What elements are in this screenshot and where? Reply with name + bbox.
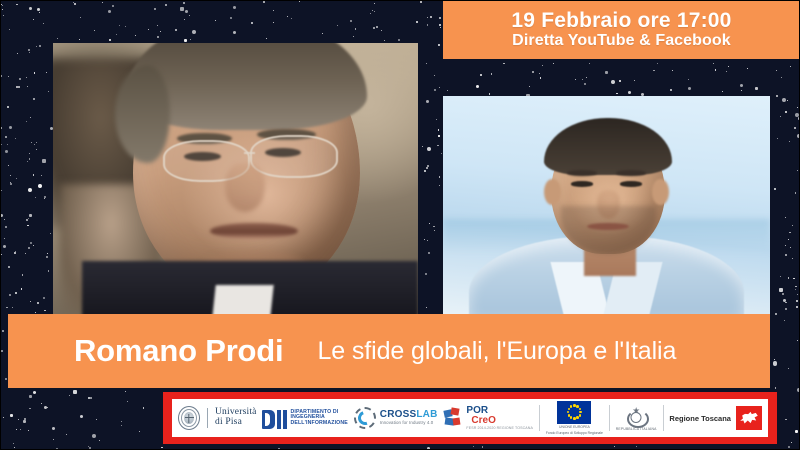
star (30, 301, 31, 302)
star (46, 72, 47, 73)
star (755, 87, 758, 90)
star (747, 68, 748, 69)
star (189, 15, 190, 16)
star (416, 21, 418, 23)
star (10, 414, 13, 417)
portrait-left-shirt-collar (212, 285, 274, 315)
por-line-2: CreO (471, 416, 533, 426)
republic-emblem-icon (626, 405, 646, 425)
star (774, 359, 775, 360)
star (785, 308, 787, 310)
star (353, 36, 354, 37)
portrait-right-eye-left (571, 181, 594, 186)
star (161, 447, 162, 448)
star (788, 277, 789, 278)
star (6, 307, 7, 308)
university-crest-icon (178, 406, 200, 430)
star (33, 174, 34, 175)
star (427, 24, 428, 25)
portrait-right-eye-right (620, 181, 643, 186)
star (715, 69, 716, 70)
star (116, 34, 117, 35)
dii-monogram-icon (262, 408, 287, 429)
star (447, 90, 448, 91)
star (69, 395, 70, 396)
star (12, 307, 13, 308)
star (109, 39, 111, 41)
star (611, 80, 615, 84)
star (780, 116, 781, 117)
star (426, 307, 427, 308)
star (48, 91, 49, 92)
star (1, 190, 2, 191)
star (33, 98, 35, 100)
star (1, 4, 2, 5)
star (36, 46, 37, 47)
star (47, 253, 48, 254)
star (29, 395, 32, 398)
star (0, 127, 2, 129)
star (266, 38, 267, 39)
star (20, 429, 21, 430)
star (8, 165, 9, 166)
star (10, 183, 12, 185)
star (793, 278, 794, 279)
star (9, 29, 10, 30)
star (56, 448, 58, 450)
star (532, 71, 534, 73)
star (439, 87, 440, 88)
star (0, 214, 3, 217)
star (776, 70, 777, 71)
star (90, 397, 92, 399)
star (185, 10, 188, 13)
star (47, 407, 48, 408)
star (135, 35, 136, 36)
eu-caption-2: Fondo Europeo di Sviluppo Regionale (546, 432, 603, 436)
star (713, 63, 714, 64)
star (273, 22, 274, 23)
eu-star (579, 414, 582, 417)
star (96, 419, 97, 420)
star (614, 446, 615, 447)
star (43, 297, 45, 299)
star (785, 254, 787, 256)
star (36, 149, 37, 150)
logo-divider (609, 405, 610, 431)
dii-line-3: DELL'INFORMAZIONE (290, 421, 347, 426)
star (3, 15, 4, 16)
star (19, 78, 21, 80)
star (436, 119, 437, 120)
star (439, 176, 440, 177)
star (553, 63, 554, 64)
star (5, 226, 7, 228)
star (728, 66, 729, 67)
star (99, 440, 100, 441)
star (37, 302, 39, 304)
star (425, 273, 427, 275)
star (30, 242, 32, 244)
star (476, 85, 479, 88)
star (439, 17, 441, 19)
star (190, 39, 191, 40)
star (337, 25, 338, 26)
event-broadcast-text: Diretta YouTube & Facebook (512, 33, 731, 50)
star (779, 288, 783, 292)
star (426, 100, 429, 103)
pegasus-icon (736, 406, 762, 430)
portrait-right-ear-right (652, 179, 668, 205)
star (791, 442, 792, 443)
star (426, 167, 428, 169)
star (273, 10, 274, 11)
star (374, 11, 375, 12)
por-tagline: FESR 2014-2020 REGIONE TOSCANA (466, 427, 533, 431)
star (88, 446, 89, 447)
logo-repubblica-italiana: REPUBBLICA ITALIANA (616, 399, 657, 437)
logo-crosslab: CROSSLAB Innovation for Industry 4.0 (354, 399, 438, 437)
star (36, 142, 37, 143)
star (792, 258, 793, 259)
star (251, 22, 253, 24)
eu-flag-icon (557, 401, 591, 424)
star (795, 286, 796, 287)
star (616, 93, 617, 94)
star (8, 76, 9, 77)
speaker-name: Romano Prodi (74, 333, 283, 369)
star (433, 226, 434, 227)
star (427, 17, 428, 18)
star (322, 33, 323, 34)
star (797, 340, 798, 341)
logo-universita-di-pisa-text: Università di Pisa (215, 408, 257, 428)
star (80, 415, 83, 418)
star (441, 153, 442, 154)
star (5, 378, 7, 380)
star (49, 0, 50, 1)
star (427, 165, 429, 167)
star (503, 63, 504, 64)
star (373, 27, 375, 29)
star (184, 19, 185, 20)
star (434, 89, 436, 91)
star (287, 16, 288, 17)
star (582, 79, 583, 80)
star (119, 25, 120, 26)
star (796, 300, 798, 302)
star (18, 419, 19, 420)
crosslab-word-part-2: LAB (416, 409, 437, 420)
star (540, 77, 541, 78)
star (28, 247, 30, 249)
logo-divider (539, 405, 540, 431)
star (165, 4, 167, 6)
star (1, 350, 3, 352)
star (230, 17, 232, 19)
star (427, 147, 431, 151)
star (183, 2, 185, 4)
logo-dii: DIPARTIMENTO DI INGEGNERIA DELL'INFORMAZ… (262, 399, 347, 437)
star (434, 230, 435, 231)
star (437, 145, 438, 146)
star (17, 53, 18, 54)
portrait-romano-prodi (53, 43, 418, 315)
logo-universita-di-pisa: Università di Pisa (178, 399, 257, 437)
sponsor-logo-strip: Università di Pisa DIPARTIMENTO DI INGEG… (163, 392, 777, 444)
star (25, 253, 26, 254)
star (79, 39, 80, 40)
star (628, 91, 631, 94)
star (785, 245, 786, 246)
star (3, 417, 4, 418)
star (125, 26, 126, 27)
star (491, 73, 492, 74)
star (215, 20, 216, 21)
event-date-text: 19 Febbraio ore 17:00 (511, 10, 731, 32)
star (8, 266, 10, 268)
star (489, 93, 490, 94)
star (291, 18, 292, 19)
logo-por-creo-text: POR CreO FESR 2014-2020 REGIONE TOSCANA (466, 406, 533, 430)
star (29, 158, 30, 159)
star (125, 391, 126, 392)
star (1, 254, 2, 255)
logo-por-creo: POR CreO FESR 2014-2020 REGIONE TOSCANA (443, 399, 533, 437)
portrait-left-sideburn (115, 65, 170, 163)
star (795, 289, 796, 290)
star (57, 38, 58, 39)
event-poster: 19 Febbraio ore 17:00 Diretta YouTube & … (0, 0, 800, 450)
portrait-left-eyeglass-lens-right (250, 135, 338, 177)
star (108, 10, 111, 13)
star (740, 84, 743, 87)
star (376, 26, 378, 28)
star (670, 89, 672, 91)
star (653, 70, 654, 71)
star (788, 239, 789, 240)
star (429, 223, 430, 224)
crosslab-gear-icon (354, 407, 376, 429)
star (542, 65, 543, 66)
star (777, 138, 778, 139)
star (787, 100, 788, 101)
star (473, 446, 474, 447)
eu-star (568, 414, 571, 417)
star (66, 434, 67, 435)
star (22, 274, 23, 275)
star (575, 79, 576, 80)
star (2, 9, 3, 10)
star (722, 91, 723, 92)
star (422, 146, 423, 147)
star (15, 292, 17, 294)
star (424, 239, 425, 240)
star (785, 217, 786, 218)
star (29, 153, 30, 154)
star (89, 447, 91, 449)
star (46, 256, 48, 258)
regione-toscana-label: Regione Toscana (669, 414, 731, 423)
star (21, 288, 22, 289)
logo-dii-text: DIPARTIMENTO DI INGEGNERIA DELL'INFORMAZ… (290, 410, 347, 426)
crosslab-word-part-1: CROSS (380, 409, 417, 420)
star (784, 320, 785, 321)
star (1, 144, 2, 145)
star (4, 219, 5, 220)
por-creo-mosaic-icon (443, 408, 463, 428)
star (790, 247, 791, 248)
star (634, 80, 635, 81)
star (13, 443, 14, 444)
star (157, 25, 158, 26)
eu-star (579, 408, 582, 411)
portrait-right-nose (597, 190, 620, 218)
star (790, 66, 791, 67)
star (35, 197, 36, 198)
logo-divider (663, 405, 664, 431)
eu-star (567, 411, 570, 414)
star (233, 31, 236, 34)
star (16, 4, 17, 5)
star (776, 95, 778, 97)
star (74, 3, 76, 5)
star (43, 23, 44, 24)
star (52, 427, 55, 430)
star (2, 330, 4, 332)
star (92, 434, 96, 438)
star (157, 36, 159, 38)
star (38, 184, 42, 188)
star (374, 3, 375, 4)
star (7, 106, 9, 108)
star (795, 430, 798, 433)
star (27, 161, 28, 162)
portrait-left-eyeglass-bridge (244, 152, 255, 154)
logo-regione-toscana: Regione Toscana (669, 399, 762, 437)
star (780, 276, 781, 277)
star (16, 429, 17, 430)
eu-star (568, 408, 571, 411)
portrait-left-nose (225, 163, 265, 212)
star (384, 40, 385, 41)
star (605, 71, 608, 74)
star (398, 39, 400, 41)
star (480, 74, 482, 76)
star (148, 29, 149, 30)
star (160, 31, 161, 32)
star (27, 86, 28, 87)
star (15, 138, 16, 139)
star (0, 75, 2, 77)
speaker-title-banner: Romano Prodi Le sfide globali, l'Europa … (8, 314, 770, 388)
star (127, 401, 128, 402)
star (774, 188, 776, 190)
star (88, 397, 90, 399)
star (636, 446, 637, 447)
star (427, 240, 428, 241)
star (39, 12, 40, 13)
talk-title: Le sfide globali, l'Europa e l'Italia (317, 337, 676, 366)
star (143, 407, 144, 408)
crosslab-tagline: Innovation for Industry 4.0 (380, 421, 438, 426)
star (9, 294, 11, 296)
star (53, 439, 54, 440)
star (29, 408, 30, 409)
star (789, 141, 790, 142)
star (350, 20, 352, 22)
star (28, 430, 29, 431)
eu-caption-1: UNIONE EUROPEA (559, 426, 590, 430)
star (121, 421, 122, 422)
star (180, 7, 184, 11)
star (29, 7, 32, 10)
star (482, 446, 483, 447)
star (657, 63, 658, 64)
star (381, 30, 382, 31)
star (586, 77, 587, 78)
star (785, 419, 786, 420)
star (619, 80, 621, 82)
star (430, 16, 432, 18)
star (785, 302, 786, 303)
star (27, 225, 28, 226)
star (34, 72, 35, 73)
star (14, 447, 15, 448)
star (438, 129, 439, 130)
star (781, 77, 782, 78)
star (797, 294, 798, 295)
star (7, 144, 8, 145)
portrait-second-speaker (443, 96, 770, 315)
star (299, 1, 300, 2)
star (797, 170, 798, 171)
star (263, 1, 265, 3)
star (439, 185, 440, 186)
star (48, 270, 49, 271)
star (439, 24, 441, 26)
portrait-right-ear-left (544, 179, 560, 205)
star (16, 178, 17, 179)
star (26, 77, 27, 78)
star (426, 63, 427, 64)
star (795, 192, 796, 193)
star (33, 19, 34, 20)
star (589, 63, 590, 64)
star (688, 87, 691, 90)
logo-unione-europea: UNIONE EUROPEA Fondo Europeo di Sviluppo… (546, 399, 603, 437)
star (775, 387, 776, 388)
star (792, 225, 793, 226)
star (773, 361, 777, 365)
star (29, 52, 30, 53)
star (424, 170, 426, 172)
star (434, 75, 435, 76)
star (42, 159, 46, 163)
star (788, 368, 789, 369)
star (14, 252, 16, 254)
star (23, 420, 26, 423)
star (112, 5, 114, 7)
star (438, 44, 440, 46)
star (26, 121, 27, 122)
star (50, 233, 51, 234)
star (192, 30, 196, 34)
star (5, 150, 8, 153)
eu-star (573, 417, 576, 420)
star (782, 98, 786, 102)
star (794, 127, 796, 129)
